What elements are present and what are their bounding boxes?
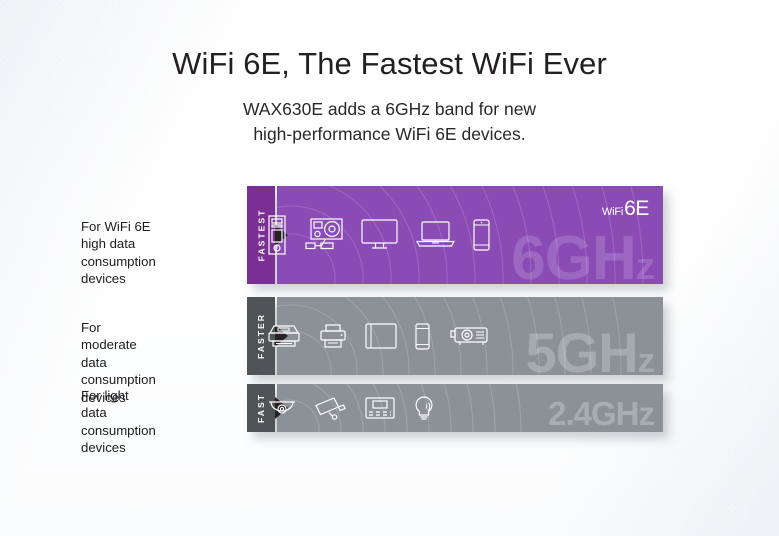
band-list: For WiFi 6E high data consumption device… bbox=[0, 0, 779, 536]
printer-icon bbox=[319, 323, 347, 349]
badge-wifi-label: WiFi bbox=[602, 206, 623, 218]
frequency-suffix: z bbox=[636, 245, 654, 284]
frequency-watermark-24ghz: 2.4GHz bbox=[548, 397, 654, 430]
band-bar-5ghz[interactable]: 5GHz bbox=[247, 297, 663, 375]
tablet-icon bbox=[365, 323, 397, 349]
bullet-camera-icon bbox=[315, 396, 347, 420]
band-bar-6ghz[interactable]: 6GHz WiFi 6E bbox=[247, 186, 663, 284]
frequency-main: 5GH bbox=[525, 321, 637, 375]
frequency-main: 2.4GHz bbox=[548, 395, 654, 432]
speed-tab-label: FASTEST bbox=[256, 209, 266, 262]
band-bar-24ghz[interactable]: 2.4GHz bbox=[247, 384, 663, 432]
badge-6e-label: 6E bbox=[624, 197, 649, 221]
frequency-main: 6GH bbox=[511, 224, 635, 284]
monitor-icon bbox=[361, 219, 398, 251]
frequency-suffix: z bbox=[638, 342, 654, 375]
desktop-tower-icon bbox=[267, 215, 287, 255]
game-console-icon bbox=[305, 217, 343, 253]
laptop-icon bbox=[416, 221, 455, 249]
thermostat-icon bbox=[365, 397, 395, 419]
device-icons-6ghz bbox=[267, 186, 490, 284]
projector-icon bbox=[448, 324, 490, 348]
smartphone-icon bbox=[415, 323, 430, 350]
scanner-icon bbox=[267, 323, 301, 349]
device-icons-5ghz bbox=[267, 297, 490, 375]
wifi-6e-badge: WiFi 6E bbox=[602, 197, 649, 221]
frequency-watermark-5ghz: 5GHz bbox=[525, 325, 654, 375]
band-caption-24ghz: For light data consumption devices bbox=[81, 387, 156, 457]
dome-camera-icon bbox=[267, 397, 297, 419]
frequency-watermark-6ghz: 6GHz bbox=[511, 228, 654, 284]
smartphone-icon bbox=[473, 219, 490, 251]
speed-tab-label: FASTER bbox=[256, 313, 266, 359]
device-icons-24ghz bbox=[267, 384, 435, 432]
speed-tab-label: FAST bbox=[256, 393, 266, 423]
band-caption-6ghz: For WiFi 6E high data consumption device… bbox=[81, 218, 156, 288]
smart-bulb-icon bbox=[413, 396, 435, 420]
